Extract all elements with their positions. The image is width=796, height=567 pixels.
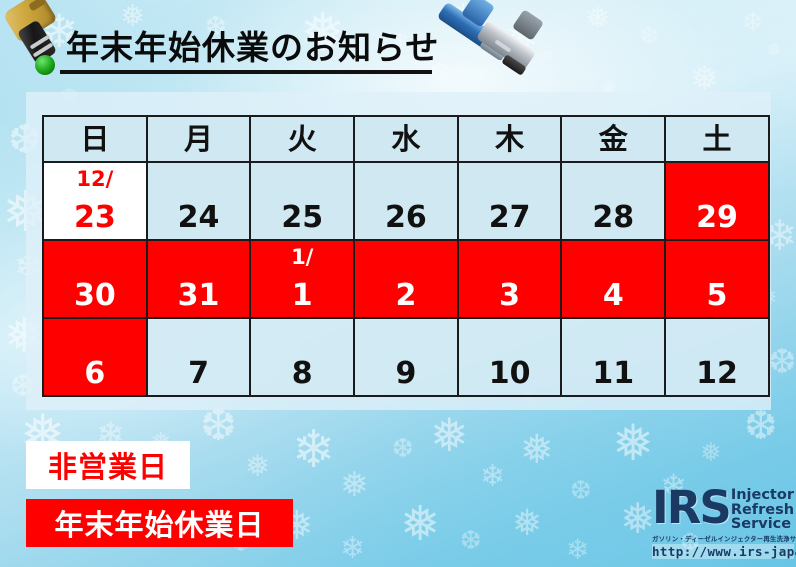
snowflake-icon: ❆ xyxy=(570,478,592,504)
snowflake-icon: ❄ xyxy=(292,424,336,476)
calendar-day-number: 28 xyxy=(562,203,664,233)
snowflake-icon: ❅ xyxy=(612,418,654,468)
calendar-day-number: 9 xyxy=(355,359,457,389)
irs-logo[interactable]: IRS Injector Refresh Service ガソリン・ディーゼルイ… xyxy=(652,487,794,559)
logo-wordmark: Injector Refresh Service xyxy=(731,488,794,532)
calendar-day-cell: 4 xyxy=(561,240,665,318)
legend-non-business-day: 非営業日 xyxy=(26,441,190,489)
weekday-header-sun: 日 xyxy=(43,116,147,162)
snowflake-icon: ❅ xyxy=(340,468,369,502)
calendar-day-cell: 26 xyxy=(354,162,458,240)
title-underline xyxy=(60,70,432,74)
calendar-week-row: 6789101112 xyxy=(43,318,769,396)
snowflake-icon: ❄ xyxy=(480,462,505,492)
calendar-day-cell: 3 xyxy=(458,240,562,318)
weekday-header-wed: 水 xyxy=(354,116,458,162)
calendar-day-cell: 12 xyxy=(665,318,769,396)
calendar-month-prefix: 1/ xyxy=(251,247,353,268)
legend-year-end-holiday: 年末年始休業日 xyxy=(26,499,293,547)
calendar-day-cell: 31 xyxy=(147,240,251,318)
logo-tagline: ガソリン・ディーゼルインジェクター再生洗浄サービス xyxy=(652,534,794,543)
calendar-day-cell: 9 xyxy=(354,318,458,396)
calendar-day-number: 31 xyxy=(148,281,250,311)
calendar-week-row: 12/23242526272829 xyxy=(43,162,769,240)
calendar-day-number: 25 xyxy=(251,203,353,233)
calendar-day-cell: 7 xyxy=(147,318,251,396)
calendar-day-cell: 12/23 xyxy=(43,162,147,240)
logo-word-injector: Injector xyxy=(731,488,794,503)
weekday-header-sat: 土 xyxy=(665,116,769,162)
logo-mark-text: IRS xyxy=(652,487,730,529)
calendar-day-number: 2 xyxy=(355,281,457,311)
calendar-day-cell: 2 xyxy=(354,240,458,318)
logo-url[interactable]: http://www.irs-japan.com xyxy=(652,544,794,559)
calendar-day-cell: 1/1 xyxy=(250,240,354,318)
calendar-day-cell: 24 xyxy=(147,162,251,240)
calendar-day-number: 5 xyxy=(666,281,768,311)
fuel-injector-yellow-icon xyxy=(2,0,64,84)
snowflake-icon: ❆ xyxy=(200,404,237,448)
logo-mark-row: IRS Injector Refresh Service xyxy=(652,487,794,533)
calendar-day-number: 10 xyxy=(459,359,561,389)
snowflake-icon: ❄ xyxy=(340,534,365,564)
snowflake-icon: ❅ xyxy=(620,498,655,540)
calendar-day-cell: 27 xyxy=(458,162,562,240)
weekday-header-tue: 火 xyxy=(250,116,354,162)
legend-year-end-holiday-label: 年末年始休業日 xyxy=(54,502,264,544)
weekday-header-thu: 木 xyxy=(458,116,562,162)
snowflake-icon: ❆ xyxy=(768,345,796,379)
snowflake-icon: ❅ xyxy=(400,500,440,548)
calendar-day-number: 26 xyxy=(355,203,457,233)
calendar-day-number: 29 xyxy=(666,203,768,233)
snowflake-icon: ❆ xyxy=(460,528,482,554)
calendar-day-number: 27 xyxy=(459,203,561,233)
calendar-day-number: 7 xyxy=(148,359,250,389)
calendar-month-prefix: 12/ xyxy=(44,169,146,190)
header: 年末年始休業のお知らせ xyxy=(0,0,796,88)
calendar-day-number: 3 xyxy=(459,281,561,311)
snowflake-icon: ❅ xyxy=(700,440,722,466)
calendar-day-cell: 28 xyxy=(561,162,665,240)
logo-word-service: Service xyxy=(731,517,794,532)
snowflake-icon: ❅ xyxy=(430,412,469,458)
weekday-header-mon: 月 xyxy=(147,116,251,162)
logo-word-refresh: Refresh xyxy=(731,503,794,518)
calendar-day-number: 30 xyxy=(44,281,146,311)
weekday-header-fri: 金 xyxy=(561,116,665,162)
fuel-injector-pair-icon xyxy=(432,0,554,88)
calendar-day-number: 24 xyxy=(148,203,250,233)
calendar-day-cell: 10 xyxy=(458,318,562,396)
page-title: 年末年始休業のお知らせ xyxy=(66,21,439,69)
calendar-day-number: 11 xyxy=(562,359,664,389)
calendar-day-cell: 8 xyxy=(250,318,354,396)
calendar-day-number: 12 xyxy=(666,359,768,389)
snowflake-icon: ❆ xyxy=(744,406,778,446)
snowflake-icon: ❅ xyxy=(512,506,542,542)
calendar-day-cell: 29 xyxy=(665,162,769,240)
snowflake-icon: ❆ xyxy=(392,436,414,462)
calendar-day-cell: 5 xyxy=(665,240,769,318)
calendar-day-number: 23 xyxy=(44,203,146,233)
calendar-day-number: 8 xyxy=(251,359,353,389)
calendar-day-number: 1 xyxy=(251,281,353,311)
holiday-calendar: 日 月 火 水 木 金 土 12/2324252627282930311/123… xyxy=(42,115,770,397)
calendar-day-cell: 30 xyxy=(43,240,147,318)
calendar-day-cell: 25 xyxy=(250,162,354,240)
holiday-notice-poster: ❄❅❆❅❄❅❆❅❄❅❆❅❄❅❆❅❄❅❆❅❄❅❆❅❄❅❆❅❄❅❆❅❄❅❆❅❄❅❆❅… xyxy=(0,0,796,567)
snowflake-icon: ❄ xyxy=(566,536,589,564)
snowflake-icon: ❅ xyxy=(520,430,554,470)
calendar-week-row: 30311/12345 xyxy=(43,240,769,318)
calendar-header-row: 日 月 火 水 木 金 土 xyxy=(43,116,769,162)
calendar-day-number: 4 xyxy=(562,281,664,311)
calendar-day-number: 6 xyxy=(44,359,146,389)
calendar-day-cell: 6 xyxy=(43,318,147,396)
calendar-day-cell: 11 xyxy=(561,318,665,396)
snowflake-icon: ❅ xyxy=(245,452,270,482)
legend-non-business-day-label: 非営業日 xyxy=(48,444,168,486)
